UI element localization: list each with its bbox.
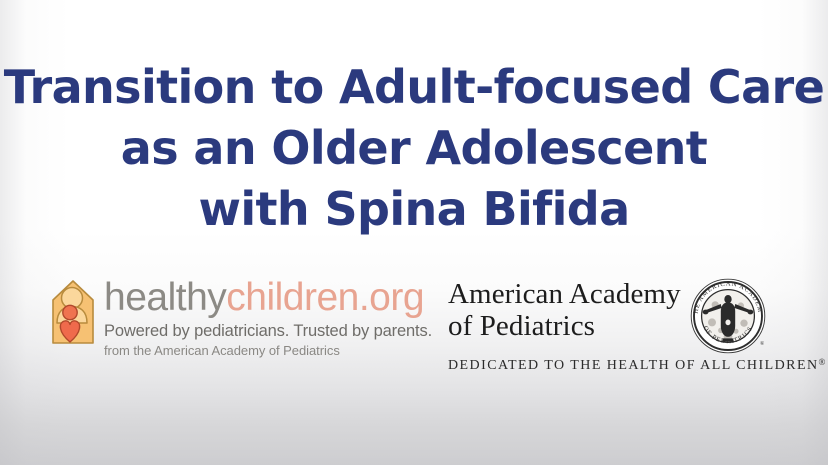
healthychildren-text-block: healthychildren.org Powered by pediatric… [104, 276, 432, 360]
slide-canvas: Transition to Adult-focused Care as an O… [0, 0, 828, 465]
healthychildren-tagline-secondary: from the American Academy of Pediatrics [104, 342, 432, 360]
seal-registered-mark-icon: ® [760, 340, 765, 347]
wordmark-children-org: children.org [226, 276, 424, 319]
aap-name-line-2: of Pediatrics [448, 310, 825, 342]
page-title: Transition to Adult-focused Care as an O… [0, 57, 828, 240]
aap-tagline-text: DEDICATED TO THE HEALTH OF ALL CHILDREN [448, 358, 819, 373]
healthychildren-logo: healthychildren.org Powered by pediatric… [50, 276, 432, 360]
aap-name-line-1: American Academy [448, 278, 825, 310]
logo-strip: healthychildren.org Powered by pediatric… [0, 272, 828, 384]
title-line-1: Transition to Adult-focused Care [0, 57, 828, 118]
title-line-3: with Spina Bifida [0, 179, 828, 240]
wordmark-healthy: healthy [104, 276, 226, 319]
healthychildren-wordmark: healthychildren.org [104, 276, 432, 320]
registered-mark-icon: ® [819, 357, 826, 367]
healthychildren-home-heart-icon [50, 278, 96, 346]
aap-tagline: DEDICATED TO THE HEALTH OF ALL CHILDREN® [448, 353, 825, 375]
healthychildren-tagline-primary: Powered by pediatricians. Trusted by par… [104, 321, 432, 341]
aap-logo: American Academy of Pediatrics DEDICATED… [448, 278, 825, 375]
title-line-2: as an Older Adolescent [0, 118, 828, 179]
aap-text-block: American Academy of Pediatrics DEDICATED… [448, 278, 825, 375]
aap-seal-icon: THE AMERICAN ACADEMY OF PEDIATRICS ® [688, 276, 768, 356]
